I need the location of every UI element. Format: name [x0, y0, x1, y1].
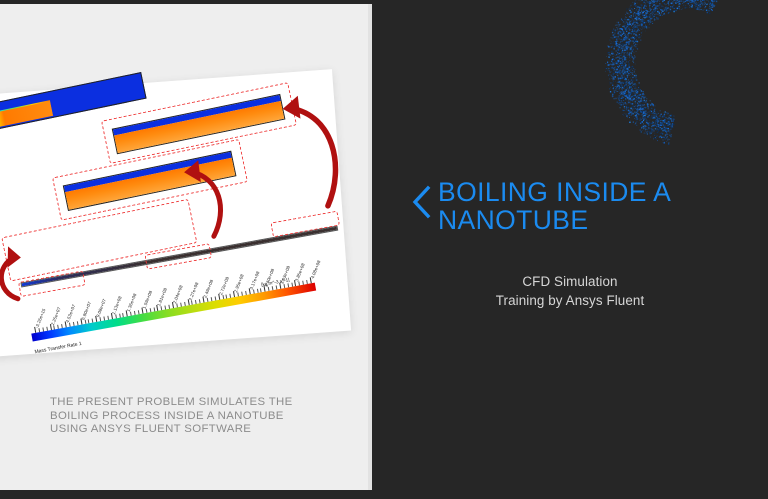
colorbar-title: Mass Transfer Rate 1	[34, 341, 82, 355]
left-content-panel: -3.26e+152.25e+074.53e+076.80e+079.08e+0…	[0, 4, 368, 490]
chevron-left-icon[interactable]	[408, 182, 434, 222]
colorbar-tick-label: 2.49e+08	[203, 279, 210, 297]
blue-particle-ring-decoration	[564, 0, 768, 158]
colorbar-tick-label: 2.27e+08	[187, 282, 194, 300]
colorbar-tick-label: 9.08e+07	[95, 298, 102, 316]
colorbar-tick-label: 4.53e+07	[65, 304, 72, 322]
zoom-arrow-right	[269, 87, 348, 222]
cfd-contour-figure[interactable]: -3.26e+152.25e+074.53e+076.80e+079.08e+0…	[0, 69, 351, 357]
figure-canvas: -3.26e+152.25e+074.53e+076.80e+079.08e+0…	[0, 69, 351, 357]
zoom-arrow-middle	[174, 155, 236, 249]
colorbar-tick-label: 1.36e+08	[126, 293, 133, 311]
bottom-dark-strip	[0, 490, 372, 499]
colorbar-tick-label: 2.25e+07	[49, 306, 56, 324]
slide-root: -3.26e+152.25e+074.53e+076.80e+079.08e+0…	[0, 0, 768, 499]
colorbar-tick-label: 4.08e+08	[310, 260, 317, 278]
hot-zone-gradient	[0, 101, 55, 130]
top-dark-strip	[0, 0, 372, 4]
colorbar-tick-label: 1.13e+08	[111, 295, 118, 313]
colorbar-tick-label: 3.17e+08	[248, 271, 255, 289]
colorbar-tick-label: 3.85e+08	[294, 262, 301, 280]
colorbar-tick-label: 2.95e+08	[233, 273, 240, 291]
subtitle-block: CFD Simulation Training by Ansys Fluent	[372, 272, 768, 310]
colorbar-tick-label: -3.26e+15	[34, 308, 42, 327]
colorbar-gradient	[31, 283, 316, 342]
page-title: BOILING INSIDE A NANOTUBE	[438, 178, 748, 234]
right-title-panel: BOILING INSIDE A NANOTUBE CFD Simulation…	[372, 0, 768, 499]
colorbar-tick-label: 1.81e+08	[157, 287, 164, 305]
colorbar-tick-label: 2.04e+08	[172, 284, 179, 302]
colorbar-tick-label: 6.80e+07	[80, 301, 87, 319]
subtitle-line-1: CFD Simulation	[372, 272, 768, 291]
colorbar-tick-label: 1.59e+08	[141, 290, 148, 308]
slide-caption: THE PRESENT PROBLEM SIMULATES THE BOILIN…	[50, 396, 320, 437]
title-block: BOILING INSIDE A NANOTUBE	[408, 178, 748, 234]
colorbar-tick-label: 2.72e+08	[218, 276, 225, 294]
subtitle-line-2: Training by Ansys Fluent	[372, 291, 768, 310]
